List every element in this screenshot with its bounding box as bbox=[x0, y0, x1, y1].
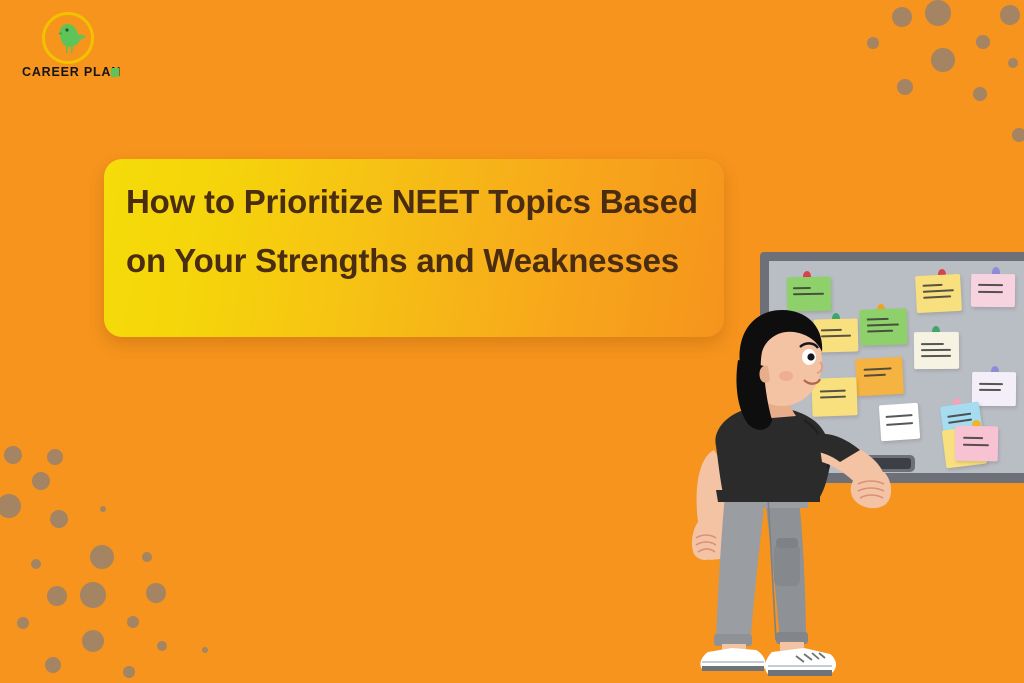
sticky-note bbox=[971, 274, 1015, 307]
decorative-dot bbox=[50, 510, 68, 528]
sticky-note bbox=[972, 372, 1016, 406]
decorative-dot bbox=[47, 449, 63, 465]
hero-banner-image: CAREER PLAN How to Prioritize NEET Topic… bbox=[0, 0, 1024, 683]
decorative-dot bbox=[976, 35, 990, 49]
decorative-dot bbox=[142, 552, 152, 562]
decorative-dot bbox=[31, 559, 41, 569]
decorative-dot bbox=[1008, 58, 1018, 68]
student-illustration bbox=[672, 300, 902, 683]
decorative-dot bbox=[32, 472, 50, 490]
decorative-dot bbox=[45, 657, 61, 673]
sticky-note bbox=[914, 332, 959, 369]
decorative-dot bbox=[1000, 5, 1020, 25]
held-sticky-note bbox=[879, 403, 920, 442]
brand-logo[interactable]: CAREER PLAN bbox=[22, 12, 142, 82]
decorative-dot bbox=[1012, 128, 1024, 142]
decorative-dot bbox=[80, 582, 106, 608]
decorative-dot bbox=[202, 647, 208, 653]
decorative-dot bbox=[0, 494, 21, 518]
page-title: How to Prioritize NEET Topics Based on Y… bbox=[126, 173, 726, 290]
sticky-note bbox=[955, 426, 999, 462]
decorative-dot bbox=[100, 506, 106, 512]
sticky-note bbox=[915, 274, 962, 313]
decorative-dot bbox=[931, 48, 955, 72]
decorative-dot bbox=[47, 586, 67, 606]
brand-accent-mark-icon bbox=[111, 68, 119, 77]
title-banner: How to Prioritize NEET Topics Based on Y… bbox=[104, 159, 724, 337]
decorative-dot bbox=[897, 79, 913, 95]
decorative-dot bbox=[17, 617, 29, 629]
decorative-dot bbox=[4, 446, 22, 464]
decorative-dot bbox=[892, 7, 912, 27]
brand-name: CAREER PLAN bbox=[22, 65, 121, 79]
decorative-dot bbox=[867, 37, 879, 49]
decorative-dot bbox=[127, 616, 139, 628]
decorative-dot bbox=[146, 583, 166, 603]
decorative-dot bbox=[973, 87, 987, 101]
decorative-dot bbox=[123, 666, 135, 678]
decorative-dot bbox=[82, 630, 104, 652]
decorative-dot bbox=[90, 545, 114, 569]
decorative-dot bbox=[925, 0, 951, 26]
decorative-dot bbox=[157, 641, 167, 651]
bird-icon bbox=[48, 17, 92, 61]
